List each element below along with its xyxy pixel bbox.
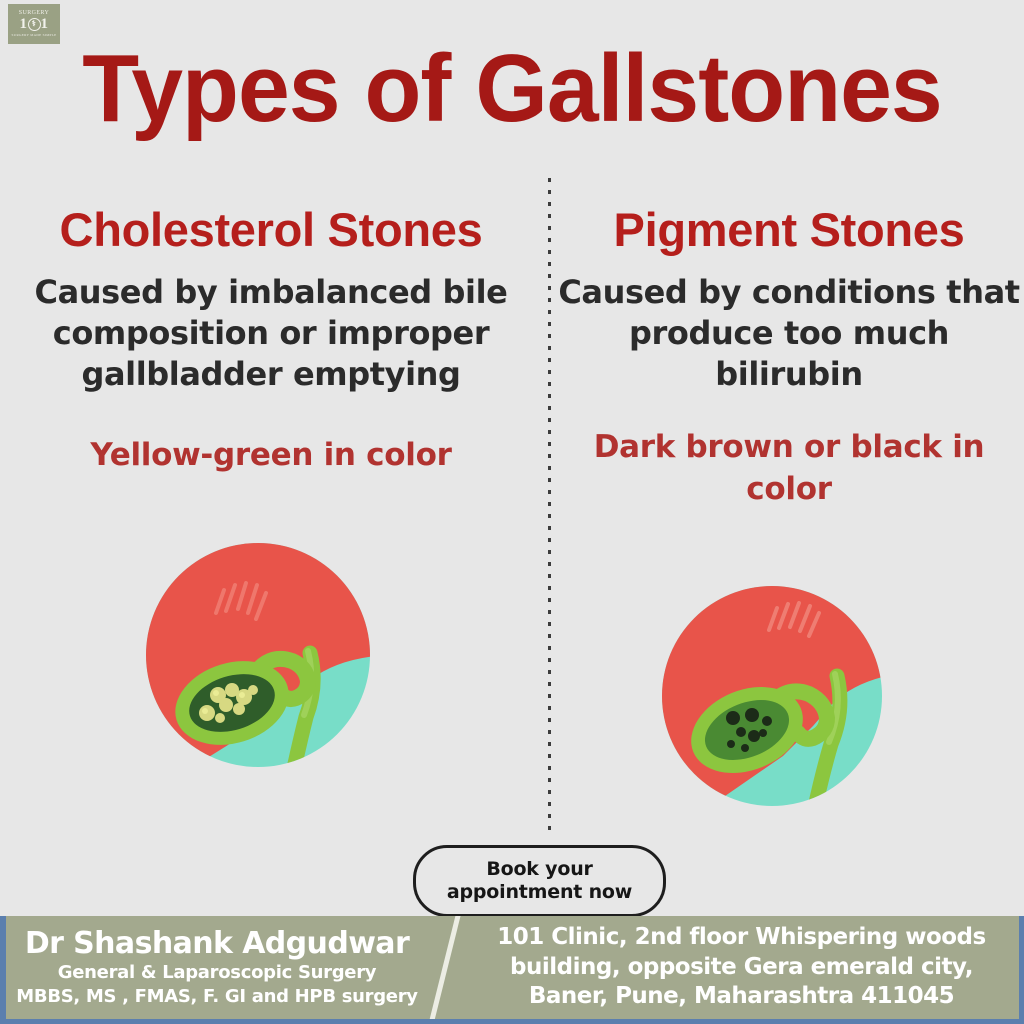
vertical-dotted-divider (548, 178, 551, 838)
cholesterol-color-note: Yellow-green in color (6, 435, 536, 477)
cta-line-1: Book your (486, 858, 592, 880)
doctor-specialty: General & Laparoscopic Surgery (10, 961, 424, 984)
column-pigment-stones: Pigment Stones Caused by conditions that… (556, 205, 1022, 511)
page-title: Types of Gallstones (15, 34, 1008, 144)
gallbladder-cholesterol-stones-illustration (140, 535, 380, 790)
cta-line-2: appointment now (447, 881, 632, 903)
cholesterol-description: Caused by imbalanced bile composition or… (6, 272, 536, 395)
clinic-address: 101 Clinic, 2nd floor Whispering woods b… (472, 923, 1019, 1011)
doctor-qualifications: MBBS, MS , FMAS, F. GI and HPB surgery (10, 985, 424, 1008)
footer-bar: Dr Shashank Adgudwar General & Laparosco… (0, 916, 1024, 1024)
pigment-heading: Pigment Stones (556, 205, 1022, 254)
logo-digit-left: 1 (20, 17, 28, 32)
pigment-color-note: Dark brown or black in color (556, 427, 1022, 511)
doctor-name: Dr Shashank Adgudwar (10, 927, 424, 961)
book-appointment-button[interactable]: Book your appointment now (413, 845, 666, 917)
cta-text: Book your appointment now (447, 858, 632, 904)
cholesterol-illustration-svg (140, 535, 380, 785)
column-cholesterol-stones: Cholesterol Stones Caused by imbalanced … (6, 205, 536, 477)
cholesterol-heading: Cholesterol Stones (6, 205, 536, 254)
logo-digit-right: 1 (41, 17, 49, 32)
logo-101-mark: 1 ⚕ 1 (20, 17, 49, 32)
footer-doctor-block: Dr Shashank Adgudwar General & Laparosco… (6, 927, 424, 1008)
logo-top-text: SURGERY (19, 10, 49, 16)
pigment-illustration-svg (655, 578, 895, 823)
caduceus-icon: ⚕ (28, 18, 41, 31)
infographic-poster: SURGERY 1 ⚕ 1 SURGERY MADE SIMPLE Types … (0, 0, 1024, 1024)
pigment-description: Caused by conditions that produce too mu… (556, 272, 1022, 395)
footer-diagonal-separator (424, 916, 472, 1022)
gallbladder-pigment-stones-illustration (655, 578, 895, 828)
